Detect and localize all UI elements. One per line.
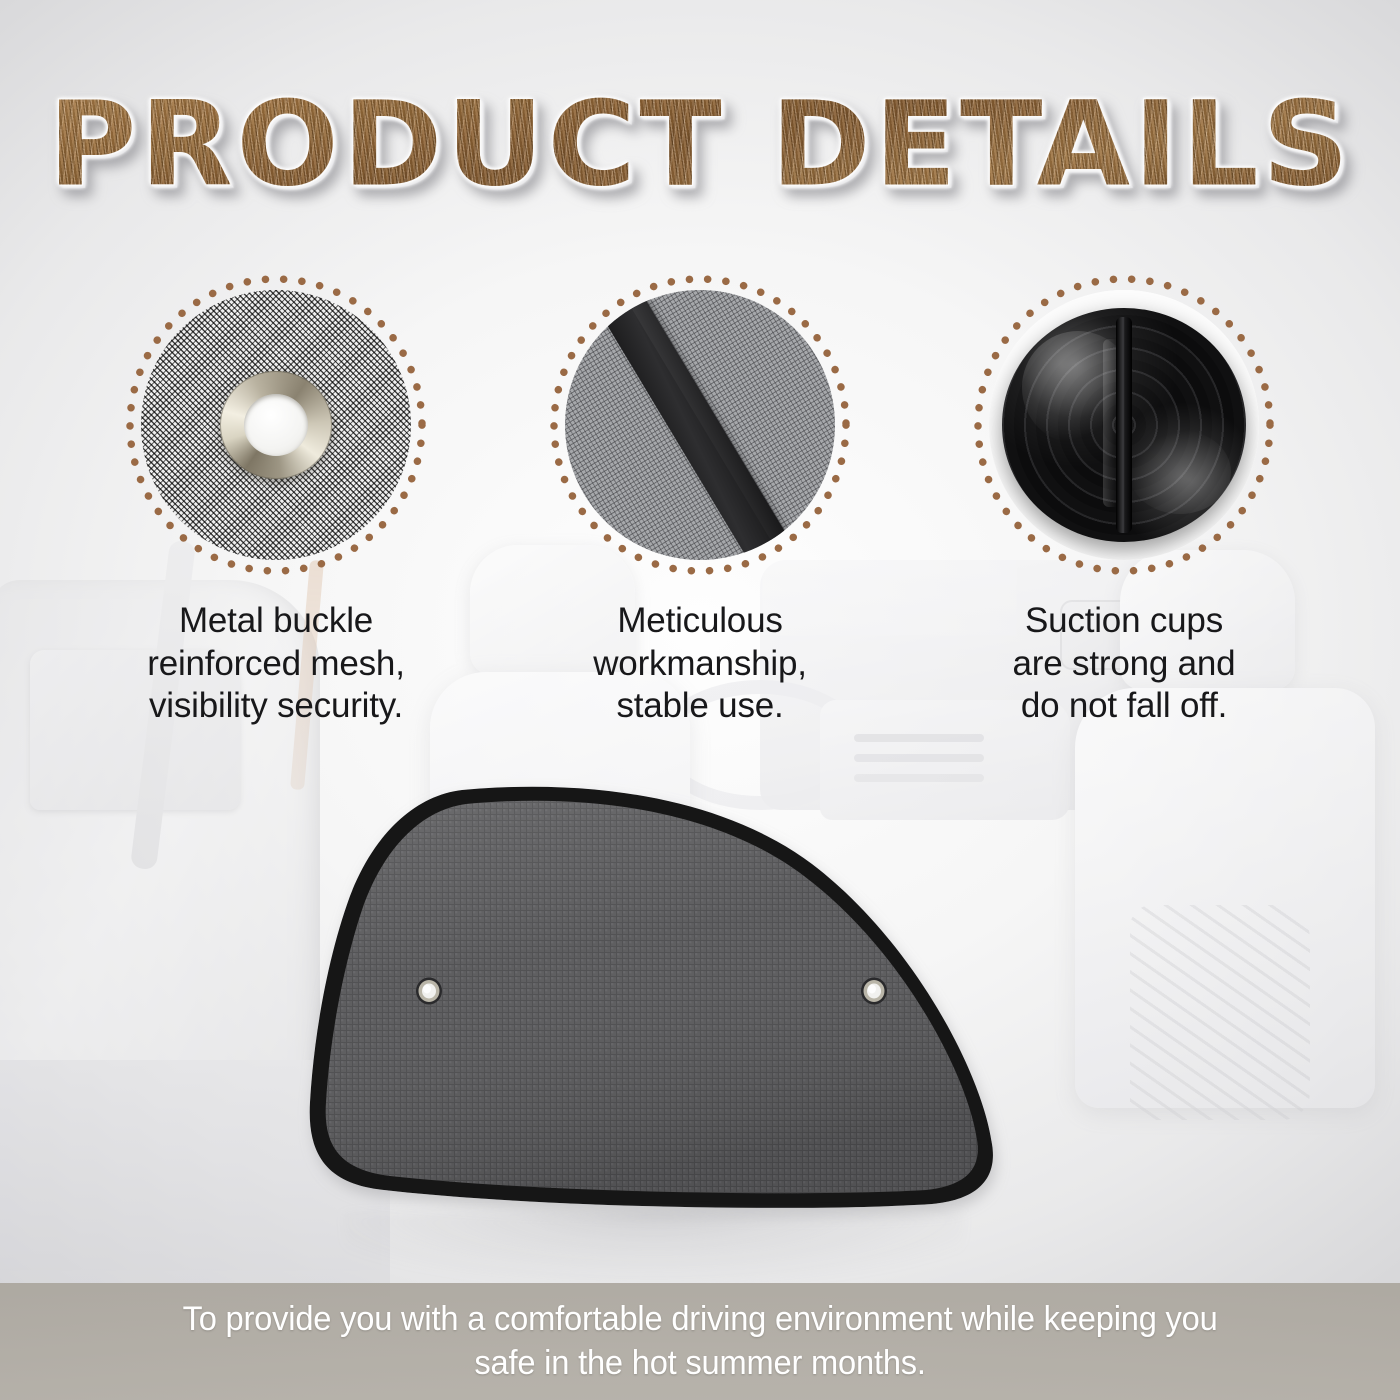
feature-caption-1: Metal buckle reinforced mesh, visibility… <box>123 600 429 728</box>
cup-highlight-bottom <box>1129 430 1231 514</box>
feature-item-workmanship: Meticulous workmanship, stable use. <box>547 272 853 728</box>
feature-circle-1 <box>123 272 429 578</box>
page-title: PRODUCT DETAILS <box>48 86 1352 202</box>
feature-image-metal-grommet <box>141 290 411 560</box>
page-title-container: PRODUCT DETAILS <box>0 86 1400 206</box>
bg-door-speaker-grille <box>1130 905 1310 1120</box>
feature-item-suction-cups: Suction cups are strong and do not fall … <box>971 272 1277 728</box>
feature-image-suction-cup <box>989 290 1259 560</box>
sunshade-grommet-left <box>416 978 442 1005</box>
suction-cup-icon <box>1002 308 1246 542</box>
sunshade-illustration <box>292 772 1004 1222</box>
feature-row: Metal buckle reinforced mesh, visibility… <box>0 272 1400 728</box>
feature-circle-3 <box>971 272 1277 578</box>
bottom-banner: To provide you with a comfortable drivin… <box>0 1283 1400 1400</box>
banner-text: To provide you with a comfortable drivin… <box>182 1298 1217 1385</box>
feature-caption-2: Meticulous workmanship, stable use. <box>547 600 853 728</box>
feature-item-metal-buckle: Metal buckle reinforced mesh, visibility… <box>123 272 429 728</box>
product-details-page: PRODUCT DETAILS Metal buckle reinforced … <box>0 0 1400 1400</box>
sunshade-grommet-right <box>861 978 887 1005</box>
metal-grommet-icon <box>220 371 332 479</box>
bg-seat-right <box>1075 688 1375 1108</box>
feature-image-mesh-edge <box>565 290 835 560</box>
hero-reflection <box>344 1212 964 1290</box>
cup-center-tab <box>1116 317 1132 532</box>
feature-caption-3: Suction cups are strong and do not fall … <box>971 600 1277 728</box>
feature-circle-2 <box>547 272 853 578</box>
hero-product-image <box>292 772 1004 1222</box>
